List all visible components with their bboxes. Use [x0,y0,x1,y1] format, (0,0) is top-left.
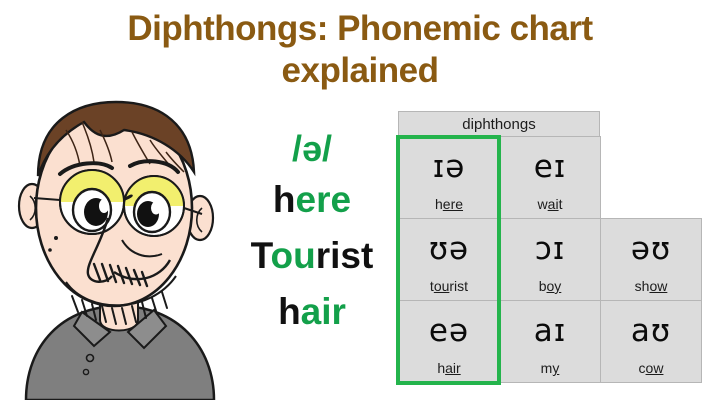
chart-symbol: eə [429,314,469,348]
word-tourist-highlight: ou [271,235,316,276]
chart-word: boy [539,278,562,294]
chart-cell-here[interactable]: ɪə here [398,136,500,219]
diphthongs-chart: diphthongs ɪə here eɪ wait ʊə tourist ɔɪ… [398,111,704,386]
chart-symbol: eɪ [534,150,567,184]
word-tourist-plain-post: rist [316,235,374,276]
chart-word: show [635,278,668,294]
page-title: Diphthongs: Phonemic chart explained [0,8,720,92]
word-hair: hair [228,284,396,340]
chart-symbol: ɔɪ [535,232,566,266]
chart-cell-cow[interactable]: aʊ cow [600,300,702,383]
chart-word-underline: oy [547,278,562,294]
chart-word: cow [639,360,664,376]
chart-word-underline: ere [443,196,463,212]
chart-cell-tourist[interactable]: ʊə tourist [398,218,500,301]
chart-word-underline: y [552,360,559,376]
word-hair-highlight: air [301,291,346,332]
chart-word: here [435,196,463,212]
example-words-block: /ə/ here Tourist hair [228,126,396,340]
chart-header: diphthongs [398,111,600,137]
page-title-line1: Diphthongs: Phonemic chart [127,9,592,48]
word-here-highlight: ere [296,179,352,220]
word-tourist-plain-pre: T [251,235,271,276]
chart-symbol: ʊə [429,232,469,266]
eye-highlight-left [99,199,109,213]
chart-word-underline: ow [649,278,667,294]
chart-cell-boy[interactable]: ɔɪ boy [499,218,601,301]
chart-word: my [541,360,560,376]
chart-cell-show[interactable]: əʊ show [600,218,702,301]
chart-cell-my[interactable]: aɪ my [499,300,601,383]
chart-symbol: aɪ [534,314,567,348]
chart-symbol: ɪə [433,150,466,184]
page-title-line2: explained [0,50,720,92]
chart-cell-wait[interactable]: eɪ wait [499,136,601,219]
eye-highlight-right [151,202,161,215]
chart-word-underline: air [445,360,461,376]
word-tourist: Tourist [228,228,396,284]
chart-word: hair [437,360,460,376]
chart-word: wait [538,196,563,212]
word-hair-plain: h [278,291,301,332]
cartoon-man-illustration [4,100,234,400]
chart-word: tourist [430,278,468,294]
chart-symbol: əʊ [631,232,671,266]
word-here-plain: h [273,179,296,220]
chart-symbol: aʊ [631,314,671,348]
chart-cell-hair[interactable]: eə hair [398,300,500,383]
chart-word-underline: ai [548,196,559,212]
phoneme-symbol: /ə/ [228,126,396,172]
chart-word-underline: ou [434,278,450,294]
word-here: here [228,172,396,228]
chart-word-underline: ow [646,360,664,376]
